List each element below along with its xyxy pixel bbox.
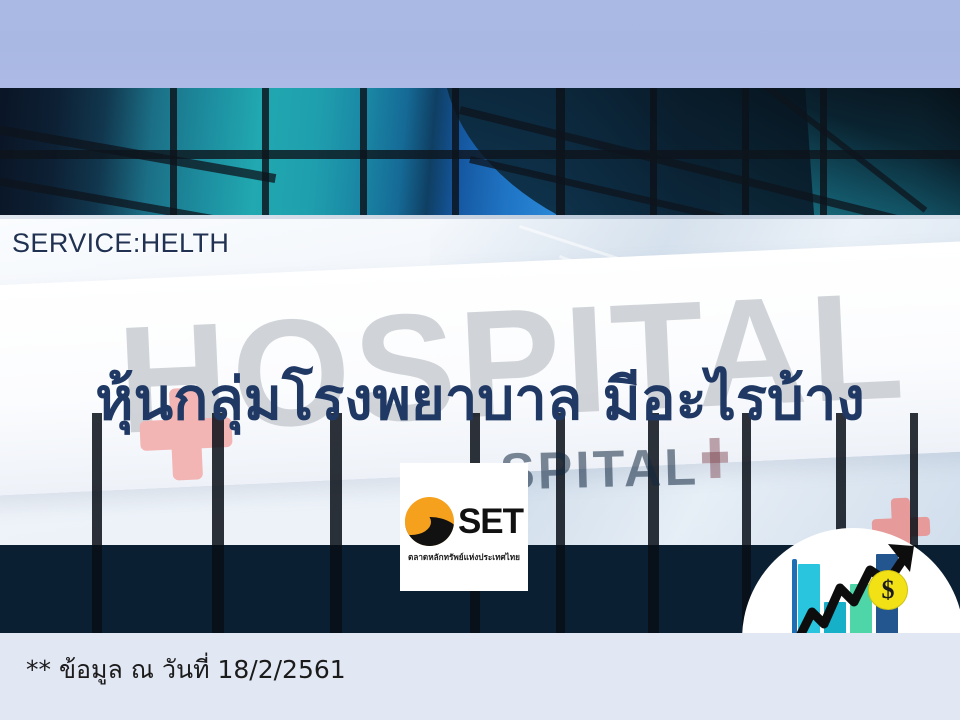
service-category-label: SERVICE:HELTH (12, 228, 229, 259)
set-logo: SET ตลาดหลักทรัพย์แห่งประเทศไทย (400, 463, 528, 591)
set-wordmark: SET (458, 504, 523, 539)
data-as-of-footnote: ** ข้อมูล ณ วันที่ 18/2/2561 (26, 650, 346, 690)
hospital-reflection-text: SPITAL (499, 437, 700, 502)
medical-cross-reflection-icon (701, 438, 728, 479)
set-subtitle: ตลาดหลักทรัพย์แห่งประเทศไทย (408, 551, 520, 564)
page-title: หุ้นกลุ่มโรงพยาบาล มีอะไรบ้าง (0, 365, 960, 433)
dollar-coin-icon: $ (868, 570, 908, 610)
facade-upper-glass (0, 88, 960, 216)
sign-top-edge (0, 215, 960, 219)
mullion-vertical (212, 413, 224, 633)
top-color-band (0, 0, 960, 88)
set-yin-yang-icon (405, 497, 454, 546)
mullion-vertical (330, 413, 342, 633)
slide-root: HOSPITAL SPITAL SERVICE:HELTH หุ้นกลุ่มโ… (0, 0, 960, 720)
mullion-vertical (92, 413, 102, 633)
set-logo-row: SET (405, 497, 523, 546)
